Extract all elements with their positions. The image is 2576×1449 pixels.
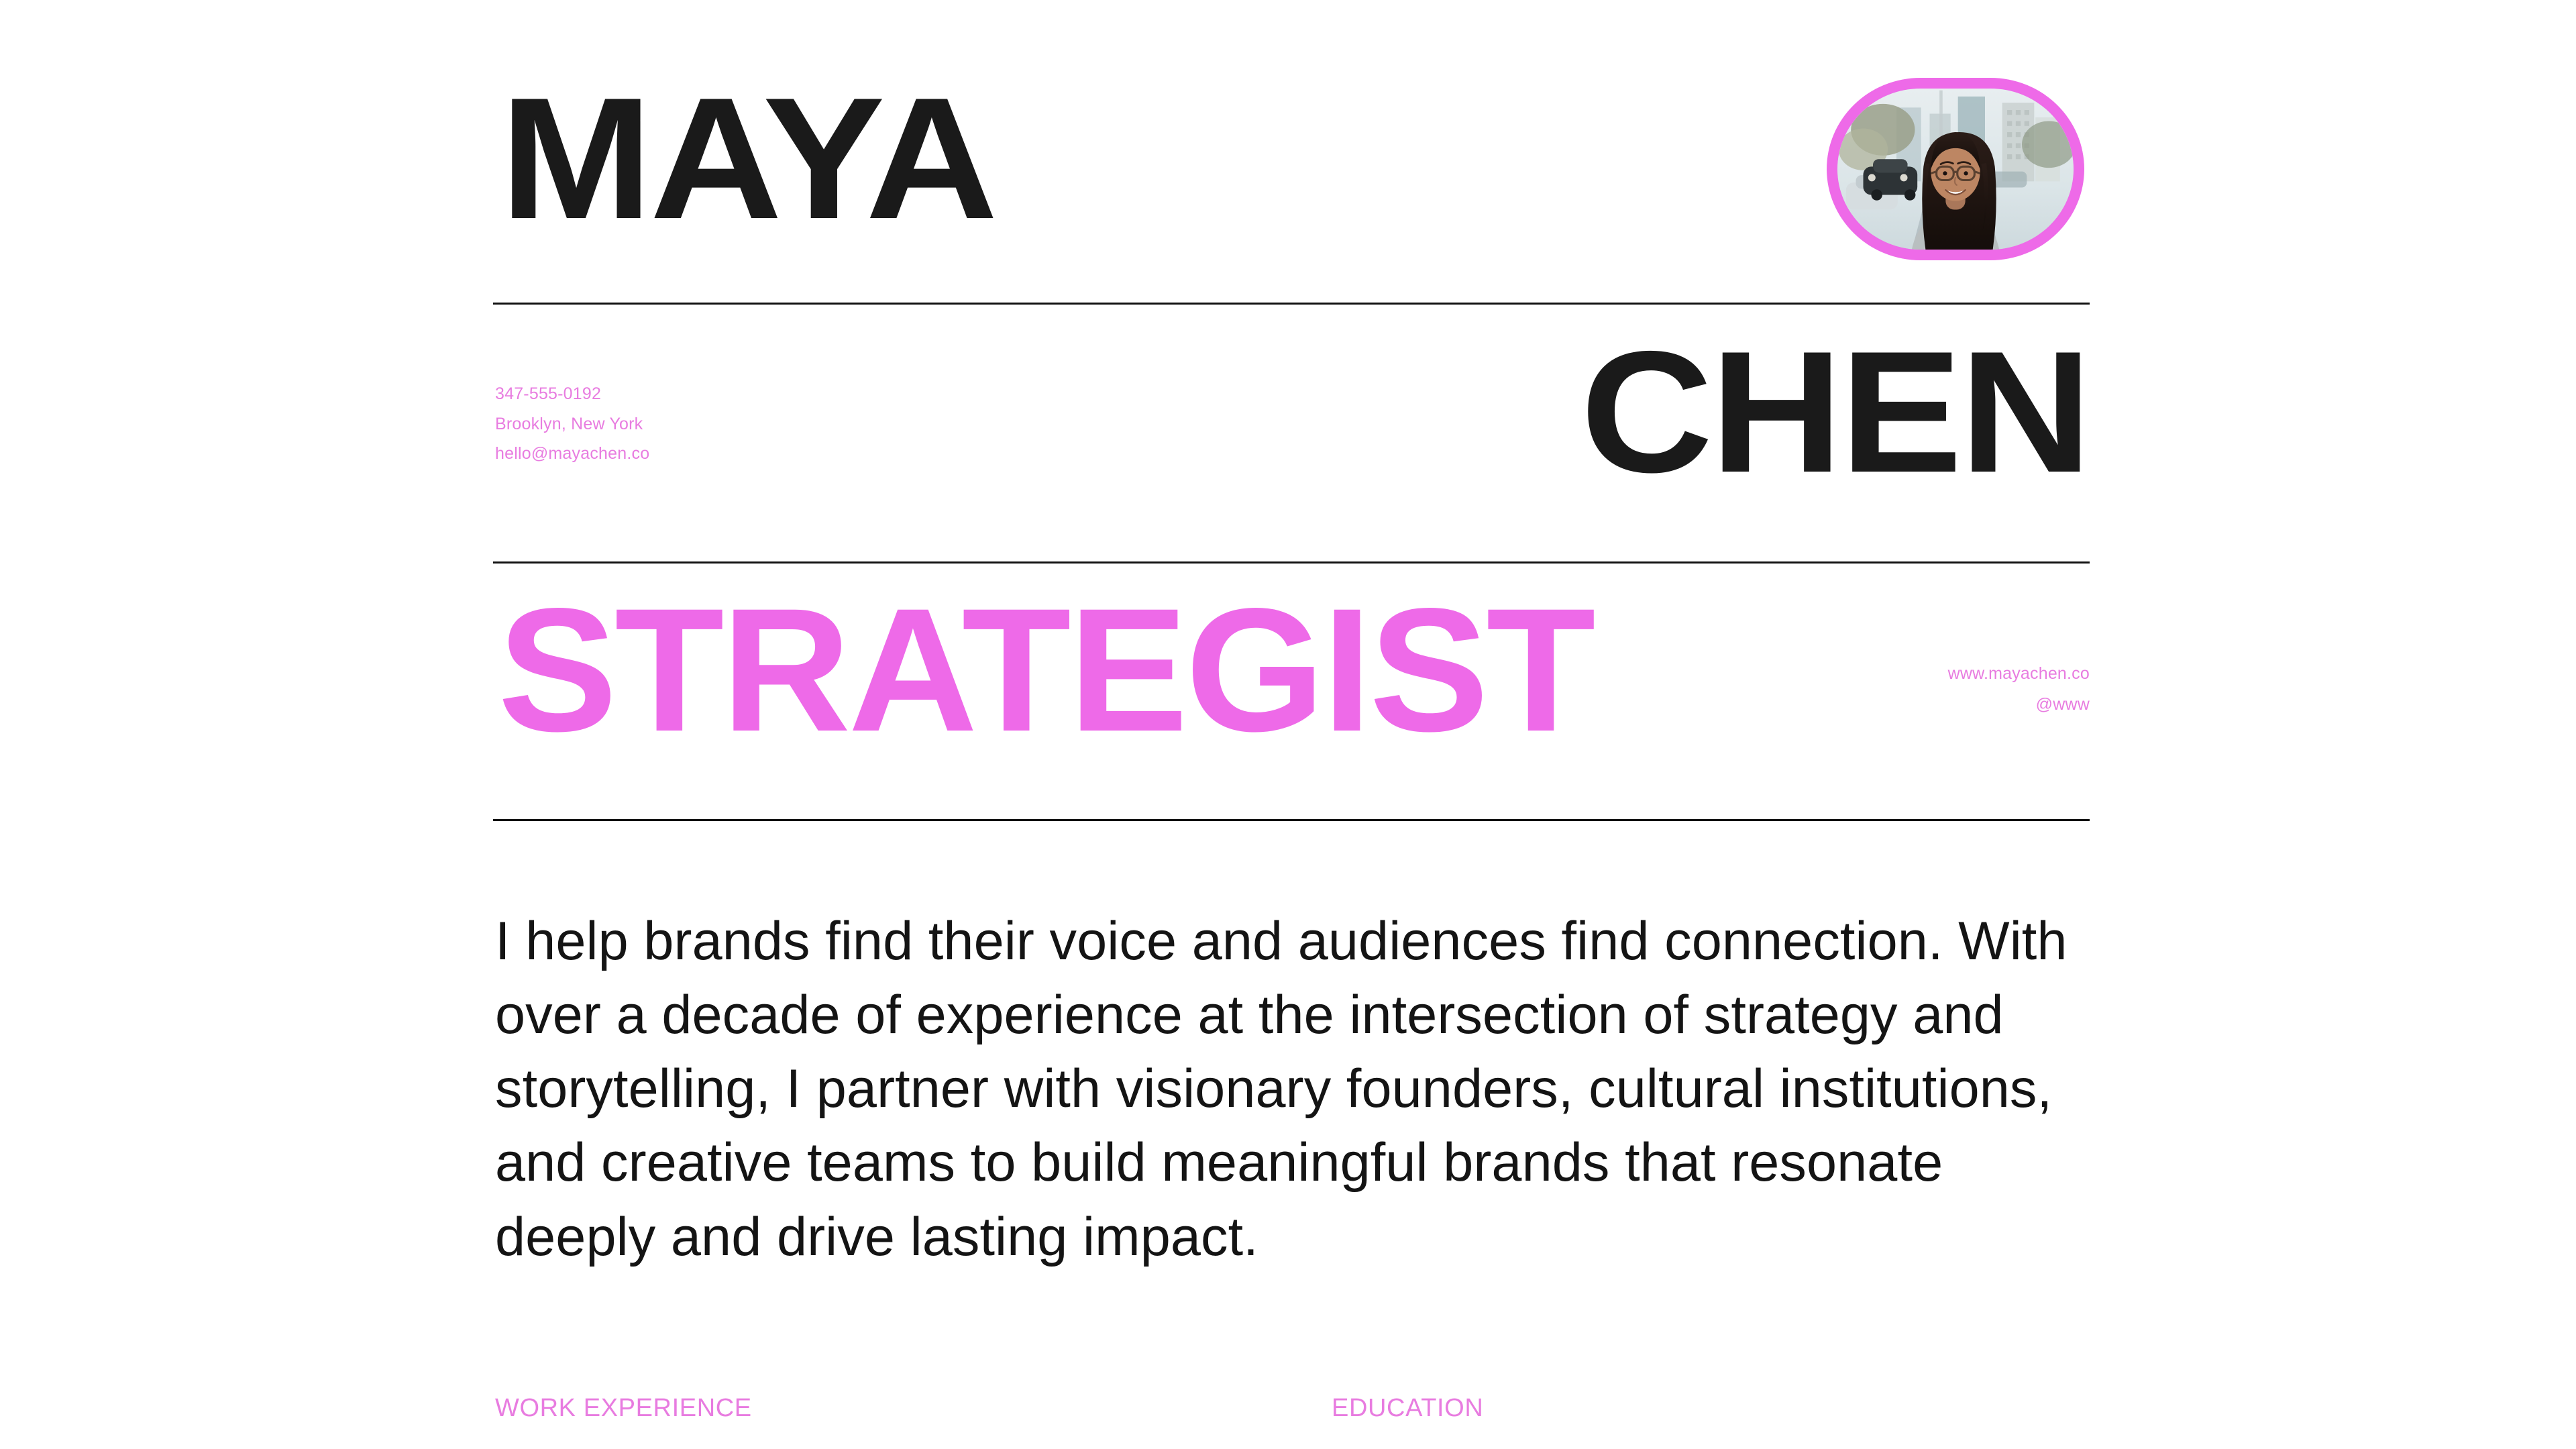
section-label-education: EDUCATION bbox=[1332, 1394, 1483, 1423]
contact-location: Brooklyn, New York bbox=[495, 409, 649, 439]
divider-rule-top bbox=[493, 303, 2090, 305]
last-name-heading: CHEN bbox=[1581, 341, 2090, 483]
links-block: www.mayachen.co @www bbox=[1948, 659, 2090, 720]
portrait-illustration bbox=[1837, 89, 2074, 250]
contact-block: 347-555-0192 Brooklyn, New York hello@ma… bbox=[495, 379, 649, 469]
divider-rule-middle bbox=[493, 561, 2090, 563]
website-link[interactable]: www.mayachen.co bbox=[1948, 659, 2090, 690]
profile-photo-image bbox=[1837, 89, 2074, 250]
role-title-heading: STRATEGIST bbox=[498, 598, 1593, 743]
resume-page: MAYA bbox=[0, 0, 2576, 1449]
first-name-heading: MAYA bbox=[500, 87, 996, 229]
divider-rule-bottom bbox=[493, 819, 2090, 821]
profile-photo bbox=[1827, 78, 2084, 260]
section-label-work-experience: WORK EXPERIENCE bbox=[495, 1394, 752, 1423]
contact-phone[interactable]: 347-555-0192 bbox=[495, 379, 649, 409]
contact-email[interactable]: hello@mayachen.co bbox=[495, 439, 649, 469]
bio-paragraph: I help brands find their voice and audie… bbox=[495, 904, 2098, 1274]
social-handle-link[interactable]: @www bbox=[1948, 690, 2090, 720]
